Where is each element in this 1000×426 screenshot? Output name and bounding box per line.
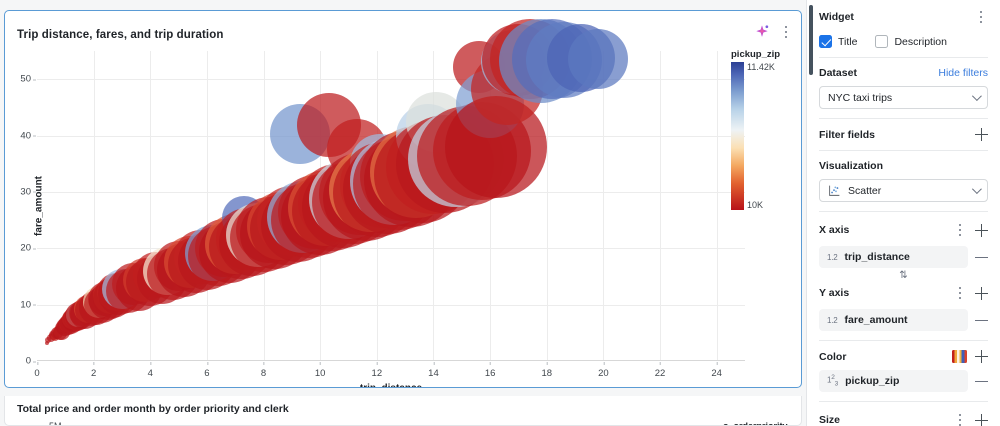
x-tick-label: 4 <box>148 368 153 379</box>
field-type-icon: 123 <box>827 374 838 387</box>
divider <box>819 118 988 119</box>
color-section-header: Color <box>819 350 988 363</box>
legend-title: pickup_zip <box>731 49 793 60</box>
minus-icon[interactable] <box>975 375 988 388</box>
app-root: Trip distance, fares, and trip duration … <box>0 0 1000 426</box>
y-tick-label: 40 <box>20 130 31 141</box>
color-field-row: 123 pickup_zip <box>819 370 988 392</box>
chevron-down-icon <box>972 91 982 101</box>
x-tick-label: 2 <box>91 368 96 379</box>
color-gradient-swatch-icon[interactable] <box>952 350 967 363</box>
x-axis-field-name: trip_distance <box>845 251 910 263</box>
x-tick-label: 8 <box>261 368 266 379</box>
y-tick-label: 30 <box>20 186 31 197</box>
y-axis-field-row: 1.2 fare_amount <box>819 309 988 331</box>
divider <box>819 401 988 402</box>
x-axis-field-row: 1.2 trip_distance <box>819 246 988 268</box>
x-tick-label: 18 <box>541 368 552 379</box>
minus-icon[interactable] <box>975 251 988 264</box>
x-tick-label: 0 <box>34 368 39 379</box>
second-widget-card[interactable]: Total price and order month by order pri… <box>4 396 802 426</box>
legend-min-label: 10K <box>747 200 763 210</box>
x-axis-menu-icon[interactable] <box>953 221 967 239</box>
title-checkbox-box[interactable] <box>819 35 832 48</box>
size-label: Size <box>819 414 840 426</box>
scatter-chart-icon <box>828 184 841 197</box>
gridline-horizontal <box>37 79 745 80</box>
filter-fields-section-header: Filter fields <box>819 128 988 141</box>
widget-section-label: Widget <box>819 11 854 23</box>
plus-icon[interactable] <box>975 287 988 300</box>
widget-card-actions <box>753 23 793 41</box>
widget-section-header: Widget <box>819 8 988 26</box>
widget-toggles: Title Description <box>819 35 988 48</box>
plus-icon[interactable] <box>975 414 988 426</box>
second-widget-legend-title: o_orderpriority <box>723 421 788 426</box>
x-axis-label: trip_distance <box>37 383 745 388</box>
gridline-vertical <box>660 51 661 361</box>
scatter-widget-card[interactable]: Trip distance, fares, and trip duration … <box>4 10 802 388</box>
color-label: Color <box>819 351 846 363</box>
filter-fields-label: Filter fields <box>819 129 875 141</box>
second-widget-title: Total price and order month by order pri… <box>17 403 289 415</box>
color-field-pill[interactable]: 123 pickup_zip <box>819 370 968 392</box>
plus-icon[interactable] <box>975 350 988 363</box>
x-tick-label: 6 <box>204 368 209 379</box>
gridline-vertical <box>603 51 604 361</box>
hide-filters-link[interactable]: Hide filters <box>938 67 988 79</box>
y-tick-label: 10 <box>20 299 31 310</box>
x-axis-section-header: X axis <box>819 221 988 239</box>
dataset-section-label: Dataset <box>819 67 857 79</box>
y-tick-label: 50 <box>20 74 31 85</box>
gridline-vertical <box>150 51 151 361</box>
field-type-icon: 1.2 <box>827 316 838 325</box>
scatter-bubble[interactable] <box>568 29 628 89</box>
divider <box>819 150 988 151</box>
visualization-select-value: Scatter <box>848 185 881 197</box>
divider <box>819 340 988 341</box>
description-checkbox-label: Description <box>894 36 947 48</box>
second-widget-y-tick: 5M <box>49 421 62 426</box>
x-tick-label: 22 <box>655 368 666 379</box>
config-sidebar[interactable]: Widget Title Description Dataset Hide fi… <box>806 0 1000 426</box>
plus-icon[interactable] <box>975 224 988 237</box>
size-section-header: Size <box>819 411 988 426</box>
dataset-select[interactable]: NYC taxi trips <box>819 86 988 109</box>
gridline-vertical <box>717 51 718 361</box>
sidebar-scrollbar[interactable] <box>809 5 813 75</box>
y-tick-label: 20 <box>20 243 31 254</box>
x-axis-field-pill[interactable]: 1.2 trip_distance <box>819 246 968 268</box>
dataset-section-header: Dataset Hide filters <box>819 67 988 79</box>
divider <box>819 211 988 212</box>
minus-icon[interactable] <box>975 314 988 327</box>
y-tick-label: 0 <box>26 356 31 367</box>
color-ramp <box>731 62 744 210</box>
x-axis-line <box>37 360 745 361</box>
color-field-name: pickup_zip <box>845 375 899 387</box>
x-tick-label: 14 <box>428 368 439 379</box>
swap-axes-icon[interactable]: ⇅ <box>819 271 988 281</box>
y-axis-section-header: Y axis <box>819 284 988 302</box>
widget-title: Trip distance, fares, and trip duration <box>17 29 223 41</box>
visualization-label: Visualization <box>819 160 883 172</box>
x-tick-label: 12 <box>372 368 383 379</box>
title-checkbox-label: Title <box>838 36 857 48</box>
description-checkbox-box[interactable] <box>875 35 888 48</box>
widget-section-menu-icon[interactable] <box>974 8 988 26</box>
gridline-vertical <box>207 51 208 361</box>
chevron-down-icon <box>972 184 982 194</box>
plus-icon[interactable] <box>975 128 988 141</box>
y-axis-field-name: fare_amount <box>845 314 908 326</box>
title-checkbox[interactable]: Title <box>819 35 857 48</box>
scatter-plot[interactable]: 01020304050 024681012141618202224 fare_a… <box>37 51 745 361</box>
divider <box>819 57 988 58</box>
gridline-horizontal <box>37 248 745 249</box>
visualization-section-header: Visualization <box>819 160 988 172</box>
x-tick-label: 20 <box>598 368 609 379</box>
sparkle-icon[interactable] <box>753 23 771 41</box>
y-axis-field-pill[interactable]: 1.2 fare_amount <box>819 309 968 331</box>
y-axis-label: Y axis <box>819 287 849 299</box>
dataset-select-value: NYC taxi trips <box>828 92 892 104</box>
y-axis-label: fare_amount <box>34 176 45 236</box>
x-tick-label: 24 <box>711 368 722 379</box>
x-axis-label: X axis <box>819 224 849 236</box>
widget-menu-icon[interactable] <box>779 23 793 41</box>
color-legend: pickup_zip 11.42K 10K <box>731 49 793 210</box>
field-type-icon: 1.2 <box>827 253 838 262</box>
description-checkbox[interactable]: Description <box>875 35 947 48</box>
visualization-select[interactable]: Scatter <box>819 179 988 202</box>
dashboard-canvas: Trip distance, fares, and trip duration … <box>0 0 806 426</box>
legend-ramp-wrap: 11.42K 10K <box>731 62 793 210</box>
y-axis-menu-icon[interactable] <box>953 284 967 302</box>
legend-max-label: 11.42K <box>747 62 775 72</box>
x-tick-label: 16 <box>485 368 496 379</box>
x-tick-label: 10 <box>315 368 326 379</box>
size-menu-icon[interactable] <box>953 411 967 426</box>
